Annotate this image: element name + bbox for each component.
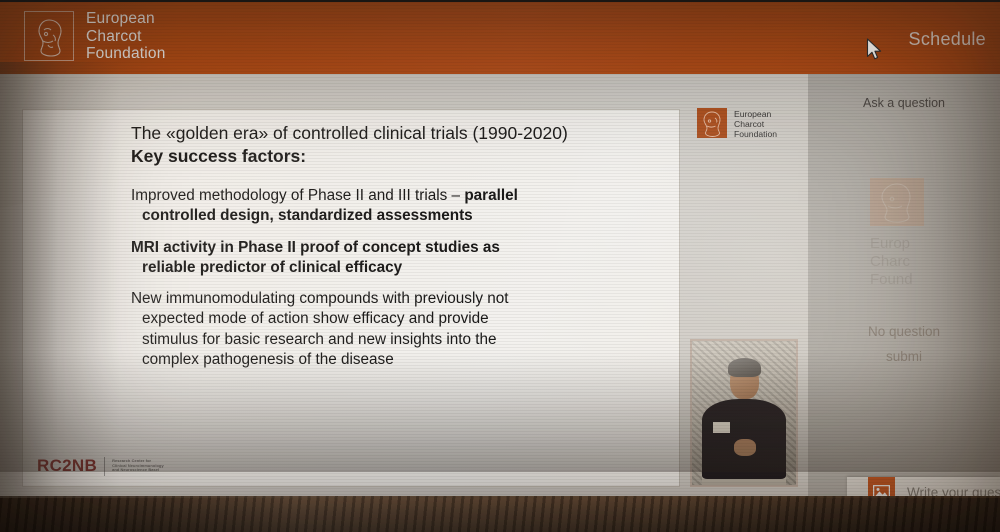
- watermark-wordmark: Europ Charc Found: [870, 235, 924, 289]
- screen: European Charcot Foundation Schedule The…: [0, 2, 1000, 498]
- bullet-3-line-3: stimulus for basic research and new insi…: [131, 330, 671, 350]
- slide-bullet-2: MRI activity in Phase II proof of concep…: [131, 238, 671, 279]
- watermark-line-1: Europ: [870, 235, 924, 253]
- bullet-1-run-2: controlled design, standardized assessme…: [131, 206, 671, 226]
- presenter-hands: [734, 439, 757, 456]
- empty-state-line-1: No question: [808, 319, 1000, 344]
- charcot-crest-icon: [24, 11, 74, 61]
- slide-panel[interactable]: The «golden era» of controlled clinical …: [22, 109, 680, 487]
- slide-embedded-logo: European Charcot Foundation: [697, 108, 777, 139]
- watermark-line-3: Found: [870, 271, 924, 289]
- mouse-pointer-icon: [866, 38, 883, 67]
- rc2nb-divider: [104, 457, 105, 476]
- monitor-bezel: European Charcot Foundation Schedule The…: [0, 0, 1000, 506]
- slide-logo-line-3: Foundation: [734, 129, 777, 139]
- slide-logo-line-2: Charcot: [734, 119, 777, 129]
- presenter-video-thumbnail[interactable]: [690, 339, 798, 487]
- slide-bullet-3: New immunomodulating compounds with prev…: [131, 289, 671, 370]
- charcot-crest-icon: [697, 108, 727, 138]
- watermark-line-2: Charc: [870, 253, 924, 271]
- bullet-1-run-1-bold: parallel: [464, 187, 518, 204]
- slide-title-line-1: The «golden era» of controlled clinical …: [131, 122, 671, 144]
- slide-logo-line-1: European: [734, 109, 777, 119]
- bullet-2-run-2: reliable predictor of clinical efficacy: [131, 258, 671, 278]
- questions-sidebar: Ask a question Europ Charc: [808, 74, 1000, 498]
- image-icon[interactable]: [868, 477, 895, 498]
- bullet-3-line-2: expected mode of action show efficacy an…: [131, 309, 671, 329]
- brand-line-3: Foundation: [86, 45, 166, 63]
- brand-logo[interactable]: European Charcot Foundation: [24, 10, 166, 63]
- slide-logo-wordmark: European Charcot Foundation: [734, 108, 777, 139]
- empty-state-message: No question submi: [808, 319, 1000, 369]
- rc2nb-subtitle: Research Center for Clinical Neuroimmuno…: [112, 459, 164, 473]
- rc2nb-acronym: RC2NB: [37, 456, 97, 476]
- bullet-3-line-1: New immunomodulating compounds with prev…: [131, 290, 509, 307]
- desk-surface: [0, 496, 1000, 532]
- bullet-1-run-1: Improved methodology of Phase II and III…: [131, 187, 464, 204]
- bullet-2-run-1: MRI activity in Phase II proof of concep…: [131, 239, 500, 256]
- slide-title: The «golden era» of controlled clinical …: [131, 122, 671, 168]
- rc2nb-logo: RC2NB Research Center for Clinical Neuro…: [37, 456, 164, 476]
- brand-line-2: Charcot: [86, 28, 166, 46]
- question-input-bar[interactable]: Write your ques: [847, 477, 1000, 498]
- app-header: European Charcot Foundation Schedule: [0, 2, 1000, 74]
- slide-bullets: Improved methodology of Phase II and III…: [131, 186, 671, 381]
- slide-title-line-2: Key success factors:: [131, 144, 671, 168]
- bullet-3-line-4: complex pathogenesis of the disease: [131, 350, 671, 370]
- empty-state-line-2: submi: [808, 344, 1000, 369]
- brand-wordmark: European Charcot Foundation: [86, 10, 166, 63]
- nav-item-schedule[interactable]: Schedule: [909, 29, 986, 50]
- presenter-name-badge: [713, 422, 731, 434]
- monitor-photo: European Charcot Foundation Schedule The…: [0, 0, 1000, 532]
- slide-bullet-1: Improved methodology of Phase II and III…: [131, 186, 671, 227]
- presenter-hair: [728, 358, 760, 377]
- brand-line-1: European: [86, 10, 166, 28]
- rc2nb-sub-3: and Neuroscience Basel: [112, 468, 164, 473]
- charcot-crest-icon: [870, 178, 924, 226]
- sidebar-watermark: Europ Charc Found: [870, 178, 924, 289]
- tab-ask-a-question[interactable]: Ask a question: [808, 96, 1000, 110]
